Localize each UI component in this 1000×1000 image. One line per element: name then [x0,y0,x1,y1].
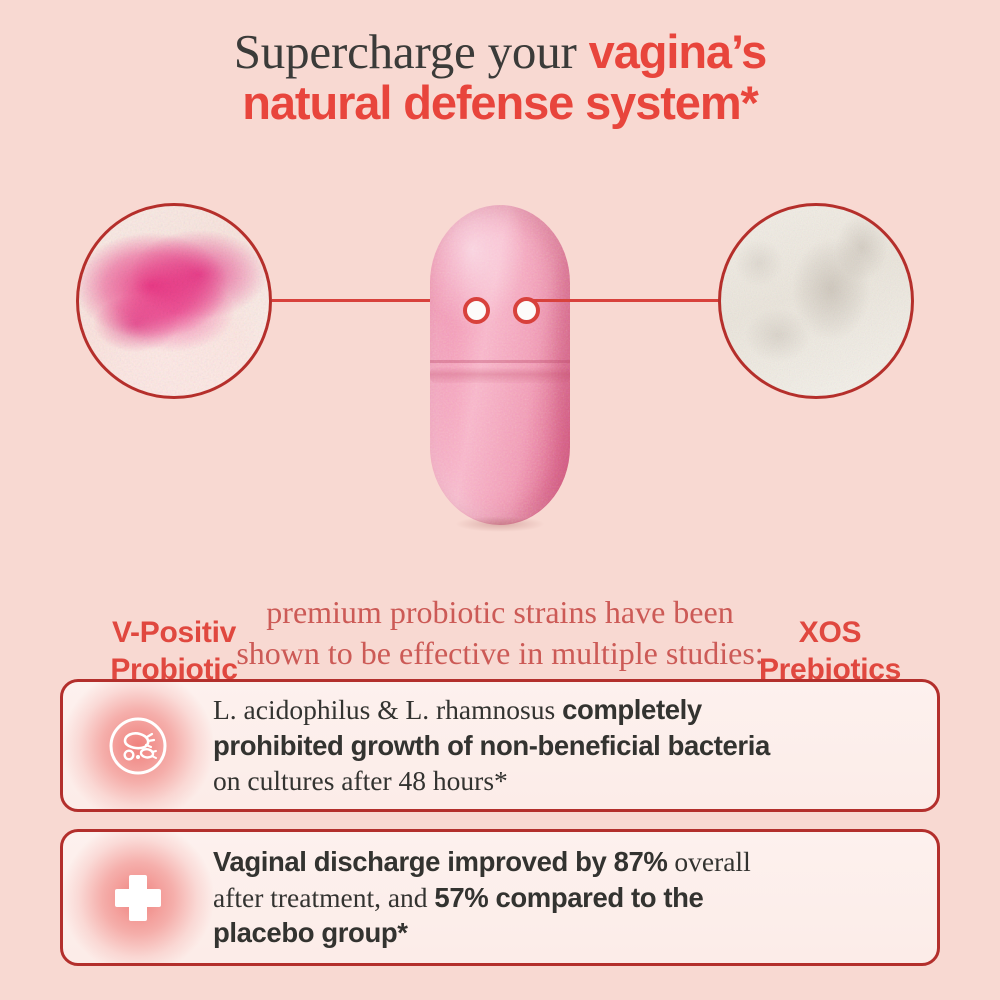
texture-overlay [721,206,911,396]
connector-endpoint-left [463,297,490,324]
headline-accent-text-1: vagina’s [589,25,767,78]
capsule-body [430,205,570,525]
studies-intro-text: premium probiotic strains have been show… [80,592,920,674]
fact-card-bacteria: L. acidophilus & L. rhamnosus completely… [60,679,940,812]
fact-text-run: on cultures after 48 hours* [213,765,508,796]
headline-line-2: natural defense system* [0,78,1000,128]
fact-text-run: prohibited growth of non-beneficial bact… [213,730,770,761]
studies-intro-line-1: premium probiotic strains have been [80,592,920,633]
fact-line: Vaginal discharge improved by 87% overal… [213,844,751,880]
fact-text-run: overall [667,846,750,877]
page-title: Supercharge your vagina’s natural defens… [0,26,1000,128]
bacteria-icon [107,715,169,777]
fact-text-run: 57% compared to the [434,882,703,913]
studies-intro-line-2: shown to be effective in multiple studie… [80,633,920,674]
fact-line: after treatment, and 57% compared to the [213,880,751,916]
capsule-seam [430,367,570,383]
prebiotic-powder-photo [718,203,914,399]
fact-text-discharge: Vaginal discharge improved by 87% overal… [213,844,777,951]
fact-text-run: L. acidophilus & L. rhamnosus [213,694,562,725]
medical-cross-icon [109,869,167,927]
ingredient-diagram: V-Positiv Probiotic Blend^ XOS Prebiotic… [0,195,1000,545]
fact-text-run: Vaginal discharge improved by 87% [213,846,667,877]
fact-line: prohibited growth of non-beneficial bact… [213,728,770,764]
connector-line-right [532,299,722,302]
fact-line: L. acidophilus & L. rhamnosus completely [213,692,770,728]
fact-text-run: completely [562,694,702,725]
texture-overlay [79,206,269,396]
fact-text-run: after treatment, and [213,882,434,913]
fact-icon-cell [63,682,213,809]
fact-card-discharge: Vaginal discharge improved by 87% overal… [60,829,940,966]
fact-text-run: placebo group* [213,917,408,948]
capsule-speckle-texture [430,205,570,524]
headline-plain-text: Supercharge your [234,24,589,79]
headline-line-1: Supercharge your vagina’s [0,26,1000,78]
capsule-graphic [430,205,570,535]
fact-text-bacteria: L. acidophilus & L. rhamnosus completely… [213,692,796,799]
headline-accent-text-2: natural defense system* [242,76,757,129]
fact-line: placebo group* [213,915,751,951]
capsule-cap-edge [430,360,570,363]
fact-icon-cell [63,832,213,963]
capsule-shadow [438,513,562,535]
fact-line: on cultures after 48 hours* [213,763,770,799]
probiotic-blend-photo [76,203,272,399]
infographic-canvas: Supercharge your vagina’s natural defens… [0,0,1000,1000]
